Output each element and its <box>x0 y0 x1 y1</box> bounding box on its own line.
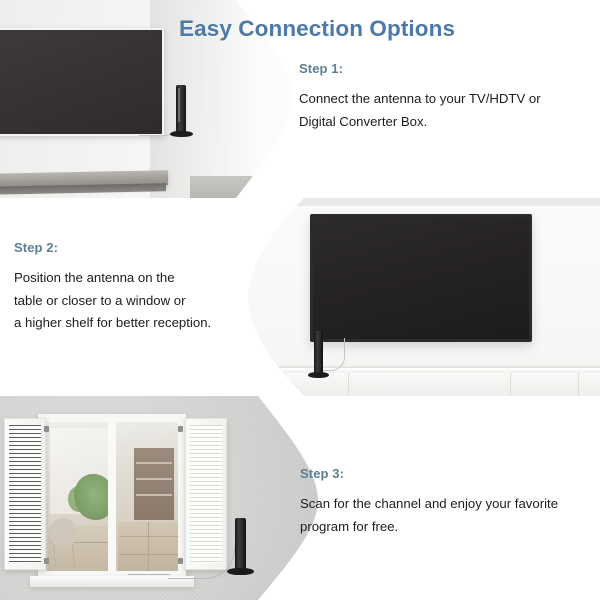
panel2-tv-screen <box>313 217 529 339</box>
panel3-shutter-left <box>4 418 46 570</box>
panel2-console-seam <box>578 373 579 396</box>
panel2-console-seam <box>348 373 349 396</box>
panel2-television <box>310 214 532 342</box>
step-3-body: Scan for the channel and enjoy your favo… <box>300 493 592 538</box>
panel2-console-seam <box>278 373 279 396</box>
step-2-line: Position the antenna on the <box>14 267 264 290</box>
panel3-hinge-icon <box>44 426 49 432</box>
panel1-antenna-highlight <box>178 88 180 122</box>
panel3-shutter-slats <box>190 425 222 563</box>
step-1-label: Step 1: <box>299 61 589 76</box>
step-1-body: Connect the antenna to your TV/HDTV or D… <box>299 88 589 133</box>
infographic-page: Easy Connection Options Step 1: Connect … <box>0 0 600 600</box>
panel3-hinge-icon <box>44 558 49 564</box>
panel3-window-frame <box>38 414 186 579</box>
step-2-text-block: Step 2: Position the antenna on the tabl… <box>14 240 264 335</box>
panel3-chair <box>50 518 76 546</box>
step-2-line: a higher shelf for better reception. <box>14 312 264 335</box>
panel3-shutter-slats <box>9 425 41 563</box>
panel1-tv-screen <box>0 30 162 134</box>
panel3-shelf-line <box>136 478 172 480</box>
step-1-text-block: Step 1: Connect the antenna to your TV/H… <box>299 61 589 133</box>
panel3-shelf-line <box>136 494 172 496</box>
panel2-console-top <box>248 368 600 373</box>
step-2-line: table or closer to a window or <box>14 290 264 313</box>
panel2-antenna-base <box>308 372 329 378</box>
panel1-concrete-block <box>190 176 258 198</box>
panel1-antenna-base <box>170 131 193 137</box>
panel3-hinge-icon <box>178 426 183 432</box>
panel3-antenna <box>235 518 246 570</box>
panel3-antenna-base <box>227 568 254 575</box>
panel3-antenna-cable-run <box>128 574 170 575</box>
panel2-ceiling-line <box>248 198 600 206</box>
step-1-line: Digital Converter Box. <box>299 111 589 134</box>
panel2-antenna-cable <box>322 338 345 371</box>
panel3-chair-legs <box>53 544 75 568</box>
panel3-shelving-unit <box>134 448 174 520</box>
step-3-photo <box>0 396 320 600</box>
page-title: Easy Connection Options <box>179 16 455 42</box>
step-2-label: Step 2: <box>14 240 264 255</box>
step-2-photo <box>248 198 600 396</box>
panel2-console-seam <box>510 373 511 396</box>
panel3-cabinet-line <box>120 536 178 537</box>
step-1-line: Connect the antenna to your TV/HDTV or <box>299 88 589 111</box>
panel2-antenna <box>314 331 323 373</box>
step-3-label: Step 3: <box>300 466 592 481</box>
panel3-shelf-line <box>136 462 172 464</box>
step-3-line: Scan for the channel and enjoy your favo… <box>300 493 592 516</box>
panel3-cabinet-line <box>148 522 149 571</box>
step-2-body: Position the antenna on the table or clo… <box>14 267 264 335</box>
step-3-line: program for free. <box>300 516 592 539</box>
panel3-window-mullion <box>108 422 116 571</box>
step-3-text-block: Step 3: Scan for the channel and enjoy y… <box>300 466 592 538</box>
